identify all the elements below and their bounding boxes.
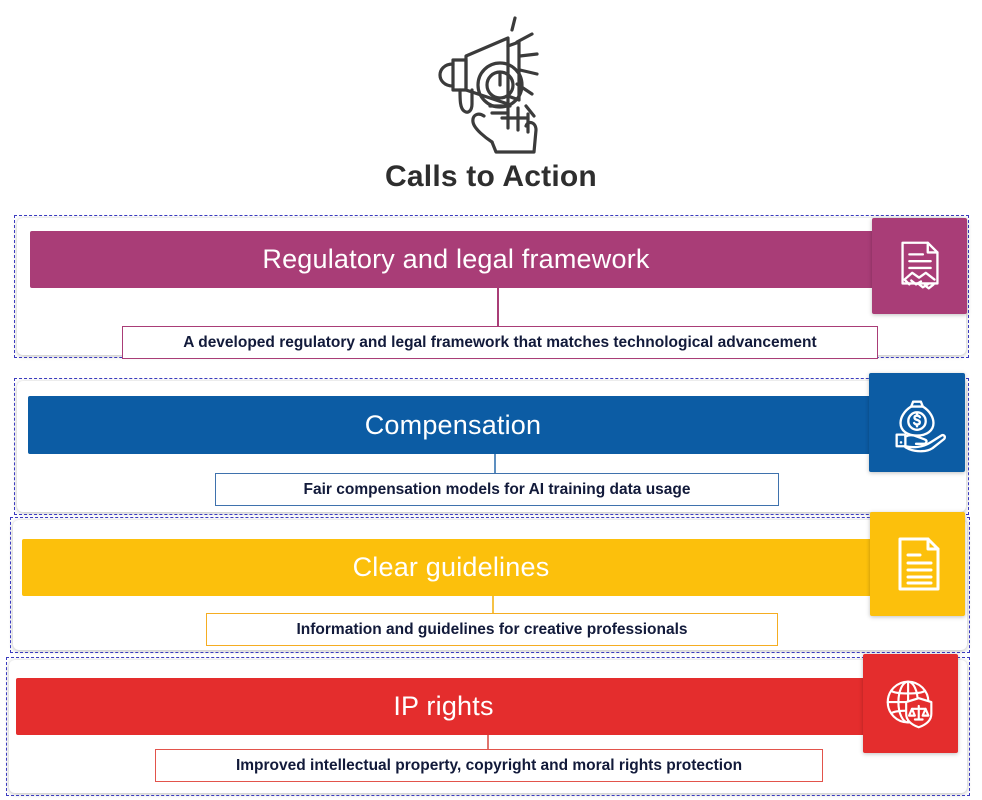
row-ip-rights[interactable]: IP rights Improved intellectual property… <box>6 657 970 796</box>
hand-money-bag-icon[interactable] <box>869 373 965 472</box>
row-title-label: Clear guidelines <box>353 552 550 583</box>
header: Calls to Action <box>0 0 982 212</box>
row-caption-text: Improved intellectual property, copyrigh… <box>236 757 742 775</box>
row-caption-text: Fair compensation models for AI training… <box>304 481 691 499</box>
row-title-label: Regulatory and legal framework <box>262 244 649 275</box>
row-caption-text: Information and guidelines for creative … <box>296 621 687 639</box>
document-lines-icon[interactable] <box>870 512 965 616</box>
row-caption-box[interactable]: Improved intellectual property, copyrigh… <box>155 749 823 782</box>
row-title-bar[interactable]: IP rights <box>16 678 871 735</box>
row-caption-box[interactable]: Fair compensation models for AI training… <box>215 473 779 506</box>
row-clear-guidelines[interactable]: Clear guidelines Information and guideli… <box>10 517 970 653</box>
row-title-bar[interactable]: Clear guidelines <box>22 539 880 596</box>
page-title: Calls to Action <box>385 160 597 194</box>
connector-line <box>497 288 499 328</box>
row-compensation[interactable]: Compensation Fair compensation models fo… <box>14 378 969 515</box>
row-title-label: Compensation <box>365 410 542 441</box>
row-caption-box[interactable]: A developed regulatory and legal framewo… <box>122 326 878 359</box>
row-title-bar[interactable]: Compensation <box>28 396 878 454</box>
row-caption-box[interactable]: Information and guidelines for creative … <box>206 613 778 646</box>
document-handshake-icon[interactable] <box>872 218 967 314</box>
row-title-bar[interactable]: Regulatory and legal framework <box>30 231 882 288</box>
globe-justice-shield-icon[interactable] <box>863 654 958 753</box>
megaphone-lightbulb-hand-pointer-icon <box>416 12 566 162</box>
row-regulatory[interactable]: Regulatory and legal framework A develop… <box>14 215 969 358</box>
row-caption-text: A developed regulatory and legal framewo… <box>183 334 816 352</box>
row-title-label: IP rights <box>393 691 493 722</box>
